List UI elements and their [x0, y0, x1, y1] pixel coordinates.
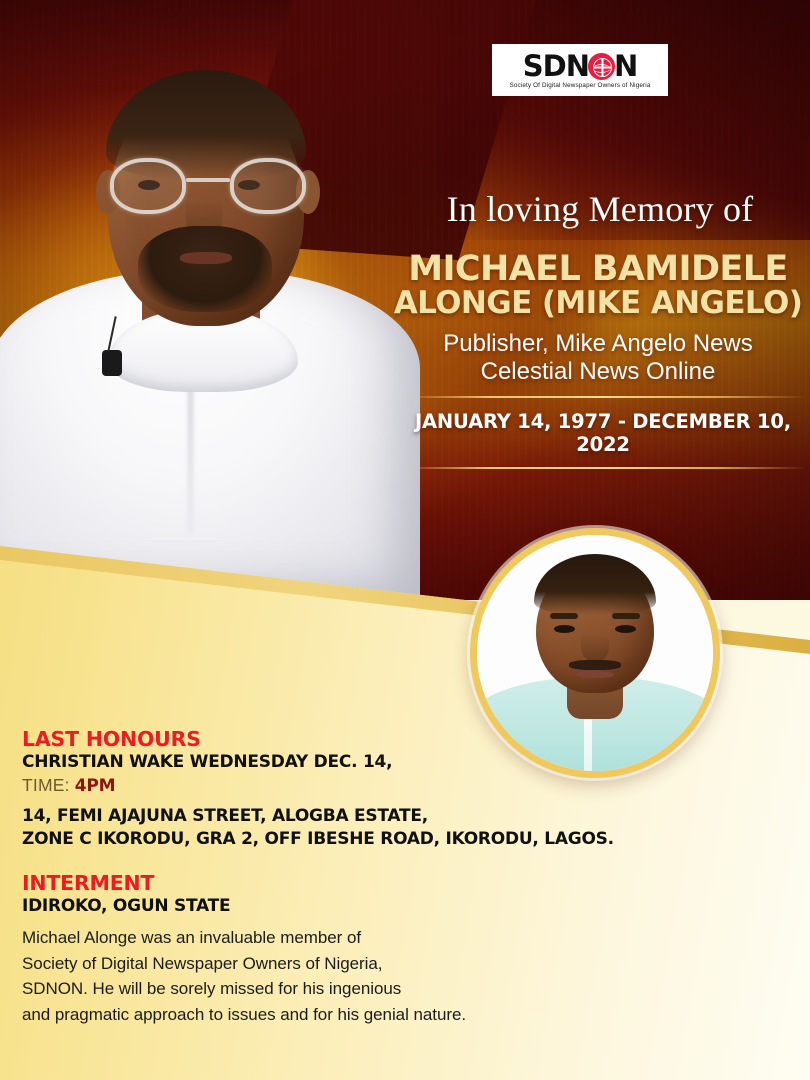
deceased-role: Publisher, Mike Angelo News Celestial Ne…	[392, 330, 804, 387]
time-row: TIME: 4PM	[22, 774, 622, 798]
last-honours-heading: LAST HONOURS	[22, 728, 622, 751]
tribute-line-2: Society of Digital Newspaper Owners of N…	[22, 951, 632, 977]
address-block: 14, FEMI AJAJUNA STREET, ALOGBA ESTATE, …	[22, 805, 622, 850]
circle-brow-left	[550, 613, 578, 619]
tribute-paragraph: Michael Alonge was an invaluable member …	[22, 925, 632, 1027]
role-line-2: Celestial News Online	[392, 358, 804, 386]
tribute-line-1: Michael Alonge was an invaluable member …	[22, 925, 632, 951]
hero-beard	[138, 226, 272, 312]
glasses-lens-left	[110, 158, 186, 214]
sdnon-logo: SDN N Society Of Digital Newspaper Owner…	[492, 44, 668, 96]
logo-letters-before: SDN	[523, 52, 589, 81]
logo-wordmark: SDN N	[523, 52, 638, 81]
hero-portrait-photo	[0, 40, 420, 600]
interment-block: INTERMENT IDIROKO, OGUN STATE	[22, 872, 622, 917]
glasses-lens-right	[230, 158, 306, 214]
logo-tagline: Society Of Digital Newspaper Owners of N…	[510, 82, 651, 89]
deceased-name: MICHAEL BAMIDELE ALONGE (MIKE ANGELO)	[392, 252, 804, 319]
name-line-2: ALONGE (MIKE ANGELO)	[392, 288, 804, 320]
interment-heading: INTERMENT	[22, 872, 622, 895]
circle-eye-left	[554, 625, 575, 633]
time-value: 4PM	[75, 776, 116, 796]
top-hero-section: SDN N Society Of Digital Newspaper Owner…	[0, 0, 810, 600]
life-dates: JANUARY 14, 1977 - DECEMBER 10, 2022	[400, 398, 806, 467]
tribute-line-4: and pragmatic approach to issues and for…	[22, 1002, 632, 1028]
logo-letters-after: N	[614, 52, 637, 81]
name-line-1: MICHAEL BAMIDELE	[392, 252, 804, 288]
role-line-1: Publisher, Mike Angelo News	[392, 330, 804, 358]
circle-brow-right	[612, 613, 640, 619]
address-line-1: 14, FEMI AJAJUNA STREET, ALOGBA ESTATE,	[22, 805, 622, 827]
tribute-line-3: SDNON. He will be sorely missed for his …	[22, 976, 632, 1002]
gold-rule-bottom	[400, 467, 806, 469]
life-dates-block: JANUARY 14, 1977 - DECEMBER 10, 2022	[400, 396, 806, 469]
address-line-2: ZONE C IKORODU, GRA 2, OFF IBESHE ROAD, …	[22, 828, 622, 850]
glasses-bridge	[186, 178, 230, 182]
globe-icon	[588, 53, 615, 80]
time-label: TIME:	[22, 775, 70, 795]
circle-mouth	[576, 671, 614, 679]
lapel-microphone-icon	[102, 350, 122, 376]
interment-location: IDIROKO, OGUN STATE	[22, 895, 622, 917]
circle-eye-right	[615, 625, 636, 633]
funeral-details: LAST HONOURS CHRISTIAN WAKE WEDNESDAY DE…	[22, 728, 622, 918]
hero-mouth	[180, 252, 232, 264]
wake-line: CHRISTIAN WAKE WEDNESDAY DEC. 14,	[22, 751, 622, 773]
memorial-poster: SDN N Society Of Digital Newspaper Owner…	[0, 0, 810, 1080]
in-loving-memory-heading: In loving Memory of	[410, 188, 790, 230]
circle-moustache	[569, 660, 621, 669]
